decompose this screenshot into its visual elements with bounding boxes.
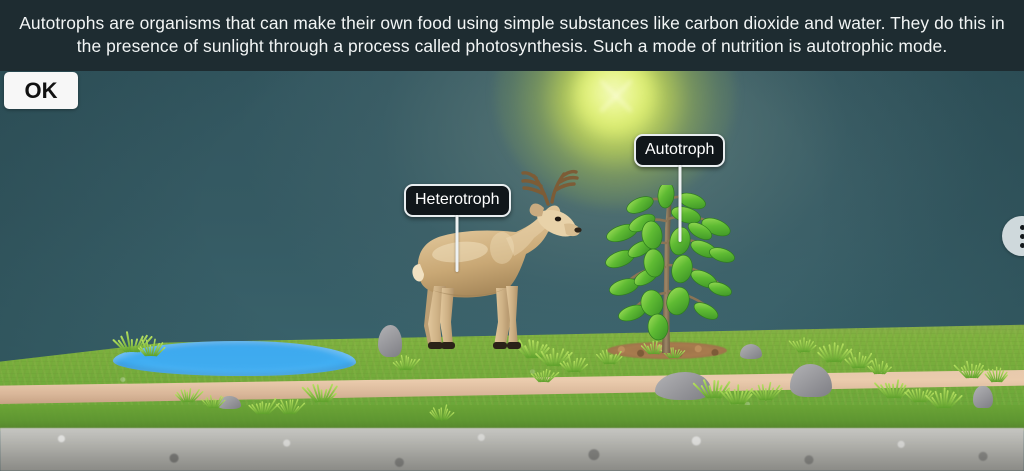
- kebab-dot: [1020, 225, 1024, 230]
- sapling-figure: [580, 185, 760, 357]
- grass-tuft: [961, 360, 982, 378]
- callout-heterotroph-label: Heterotroph: [404, 184, 511, 217]
- grass-tuft: [534, 367, 552, 382]
- grass-tuft: [987, 367, 1005, 382]
- callout-heterotroph-stem: [456, 215, 459, 272]
- kebab-dot: [1020, 243, 1024, 248]
- grass-tuft: [931, 388, 954, 408]
- grass-tuft: [432, 405, 450, 420]
- sapling-svg: [580, 185, 760, 357]
- callout-heterotroph[interactable]: Heterotroph: [404, 184, 511, 217]
- ok-button[interactable]: OK: [4, 72, 78, 109]
- grass-tuft: [821, 342, 844, 362]
- callout-autotroph-label: Autotroph: [634, 134, 725, 167]
- info-banner: Autotrophs are organisms that can make t…: [0, 0, 1024, 71]
- soil-sheen: [0, 428, 1024, 471]
- pond-highlight: [150, 346, 330, 370]
- callout-autotroph[interactable]: Autotroph: [634, 134, 725, 167]
- grass-tuft: [755, 382, 776, 400]
- grass-tuft: [909, 384, 930, 402]
- grass-tuft: [178, 387, 196, 402]
- grass-tuft: [205, 395, 221, 408]
- rock: [973, 386, 993, 408]
- info-banner-text: Autotrophs are organisms that can make t…: [6, 12, 1018, 57]
- grass-tuft: [881, 378, 904, 398]
- grass-tuft: [396, 355, 414, 370]
- grass-tuft: [140, 338, 161, 356]
- grass-tuft: [280, 399, 298, 414]
- grass-tuft: [870, 359, 888, 374]
- grass-tuft: [252, 396, 273, 414]
- grass-tuft: [563, 354, 584, 372]
- kebab-dot: [1020, 234, 1024, 239]
- grass-tuft: [848, 350, 869, 368]
- grass-tuft: [309, 382, 332, 402]
- simulation-canvas[interactable]: Heterotroph Autotroph Autotrophs are org…: [0, 0, 1024, 471]
- callout-autotroph-stem: [678, 165, 681, 242]
- grass-tuft: [794, 337, 812, 352]
- grass-tuft: [725, 384, 748, 404]
